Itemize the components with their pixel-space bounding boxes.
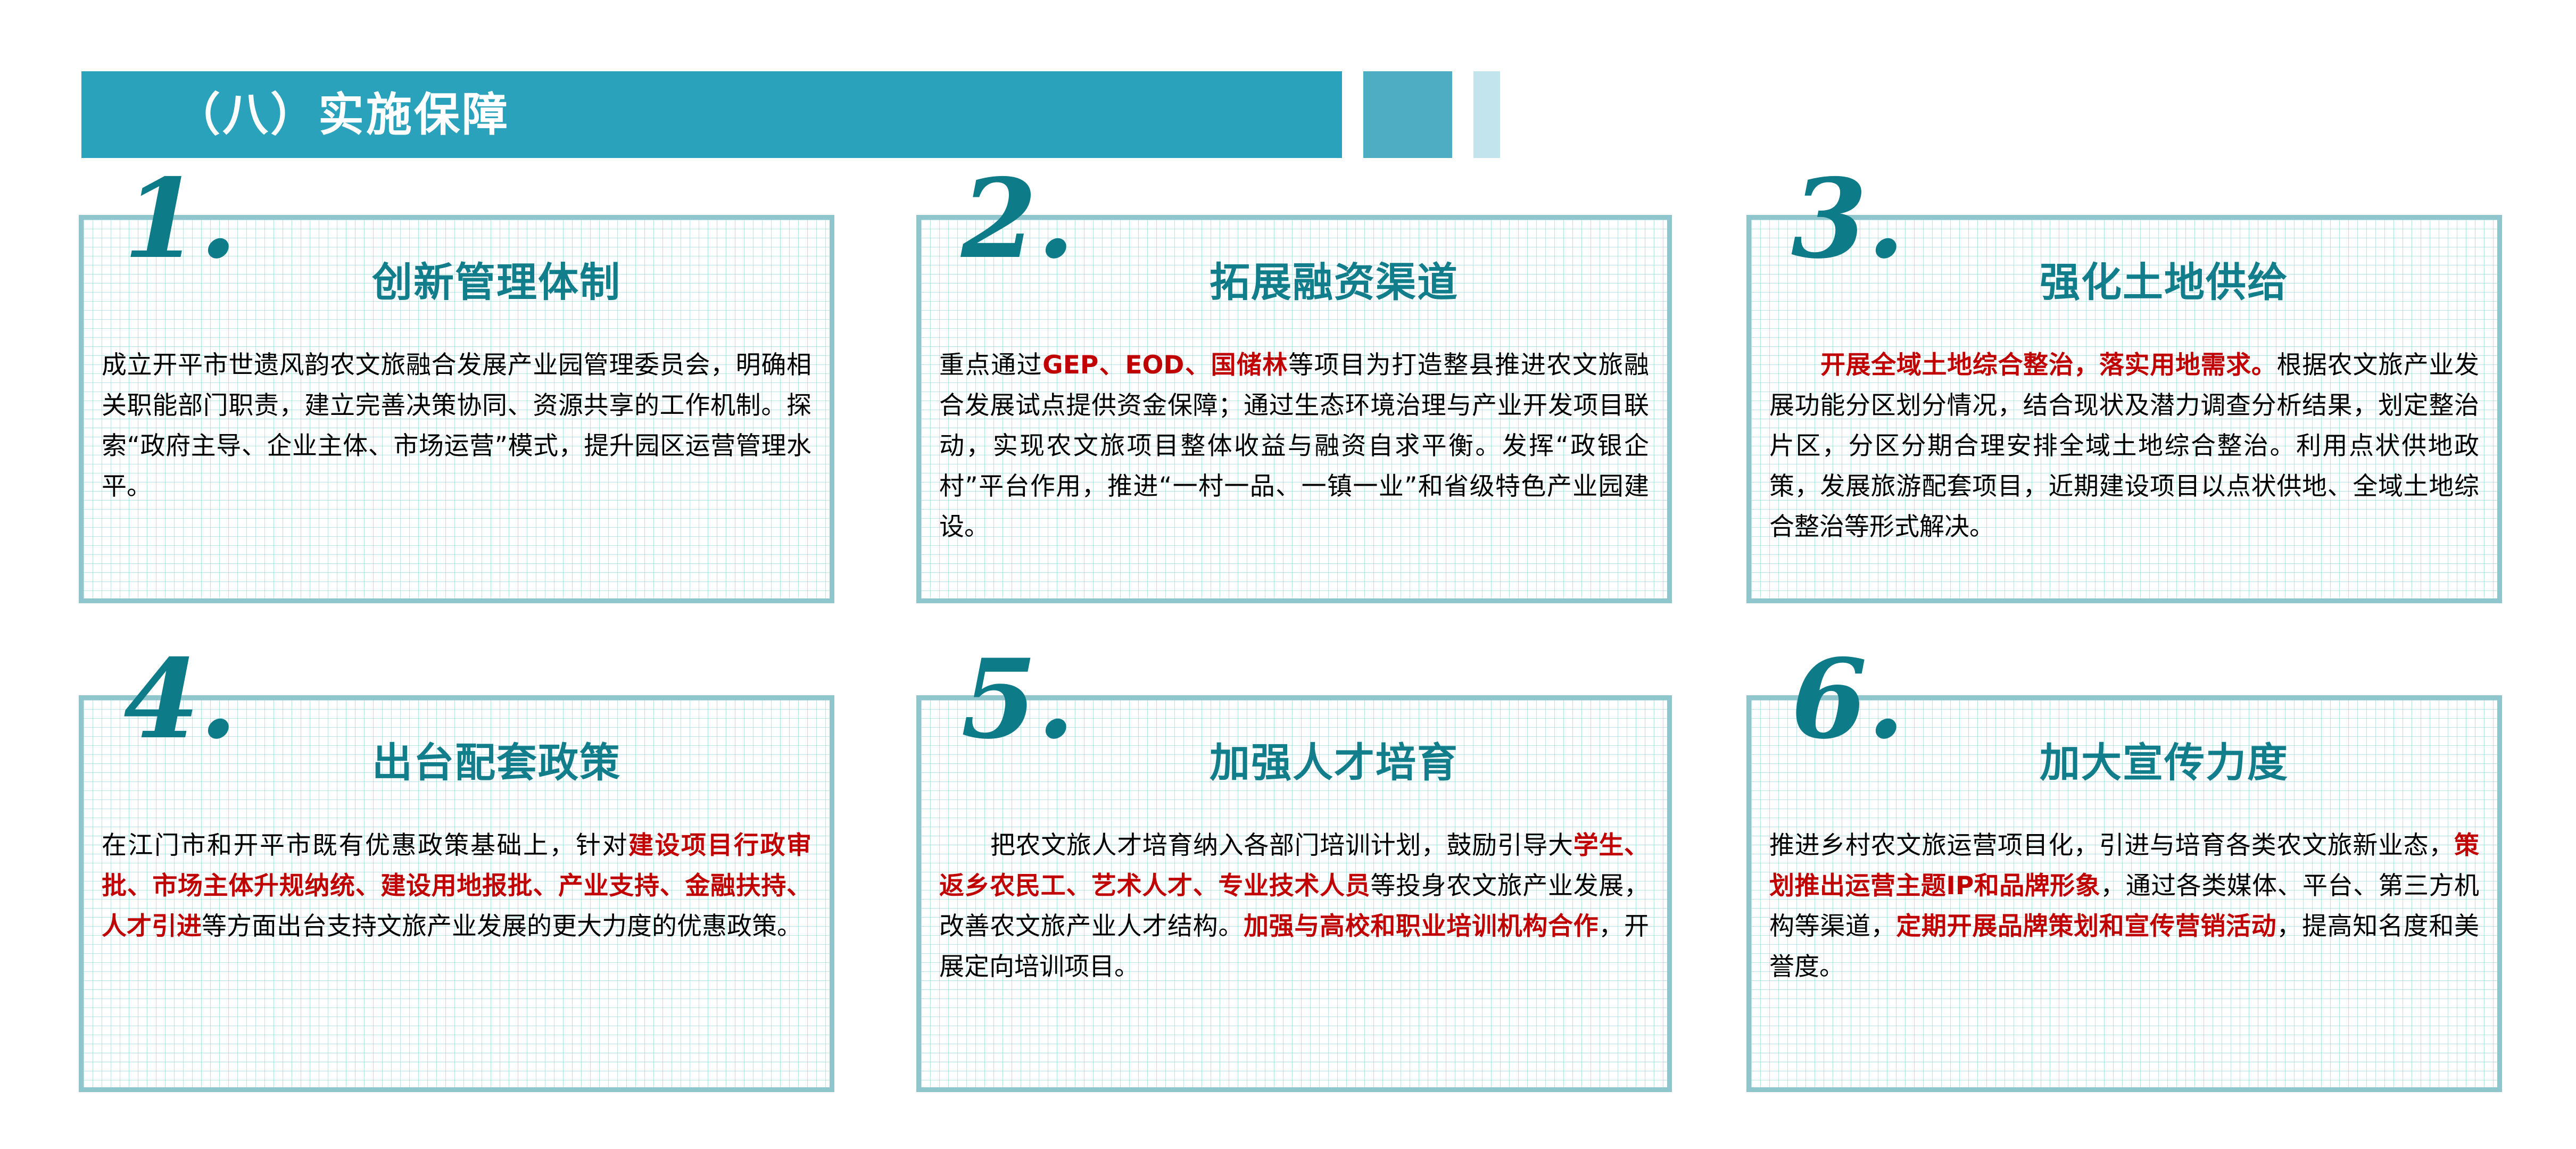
highlighted-text-run: 定期开展品牌策划和宣传营销活动 xyxy=(1896,912,2276,941)
measure-card-body: 重点通过GEP、EOD、国储林等项目为打造整县推进农文旅融合发展试点提供资金保障… xyxy=(939,345,1649,548)
body-text-run: 把农文旅人才培育纳入各部门培训计划，鼓励引导大 xyxy=(990,831,1573,860)
measure-card-body: 成立开平市世遗风韵农文旅融合发展产业园管理委员会，明确相关职能部门职责，建立完善… xyxy=(102,345,811,507)
measure-card-body: 开展全域土地综合整治，落实用地需求。根据农文旅产业发展功能分区划分情况，结合现状… xyxy=(1769,345,2479,548)
measure-card-number: 3. xyxy=(1791,165,1905,274)
measure-card-number: 4. xyxy=(123,645,237,754)
body-text-run: 在江门市和开平市既有优惠政策基础上，针对 xyxy=(102,831,628,860)
measure-card-number: 5. xyxy=(961,645,1075,754)
measures-card-grid: 创新管理体制成立开平市世遗风韵农文旅融合发展产业园管理委员会，明确相关职能部门职… xyxy=(0,0,2576,1149)
measure-card-body: 在江门市和开平市既有优惠政策基础上，针对建设项目行政审批、市场主体升规纳统、建设… xyxy=(102,826,811,947)
highlighted-text-run: 开展全域土地综合整治，落实用地需求。 xyxy=(1820,351,2277,380)
measure-card-number: 1. xyxy=(123,165,237,274)
highlighted-text-run: GEP、EOD、国储林 xyxy=(1042,351,1288,380)
measure-card-number: 6. xyxy=(1791,645,1905,754)
highlighted-text-run: 加强与高校和职业培训机构合作 xyxy=(1244,912,1598,941)
body-text-run: 重点通过 xyxy=(939,351,1042,380)
measure-card-number: 2. xyxy=(961,165,1075,274)
body-text-run: 推进乡村农文旅运营项目化，引进与培育各类农文旅新业态， xyxy=(1769,831,2454,860)
body-text-run: 等方面出台支持文旅产业发展的更大力度的优惠政策。 xyxy=(202,912,802,941)
measure-card-body: 推进乡村农文旅运营项目化，引进与培育各类农文旅新业态，策划推出运营主题IP和品牌… xyxy=(1769,826,2479,988)
measure-card-body: 把农文旅人才培育纳入各部门培训计划，鼓励引导大学生、返乡农民工、艺术人才、专业技… xyxy=(939,826,1649,988)
body-text-run: 成立开平市世遗风韵农文旅融合发展产业园管理委员会，明确相关职能部门职责，建立完善… xyxy=(102,351,811,501)
